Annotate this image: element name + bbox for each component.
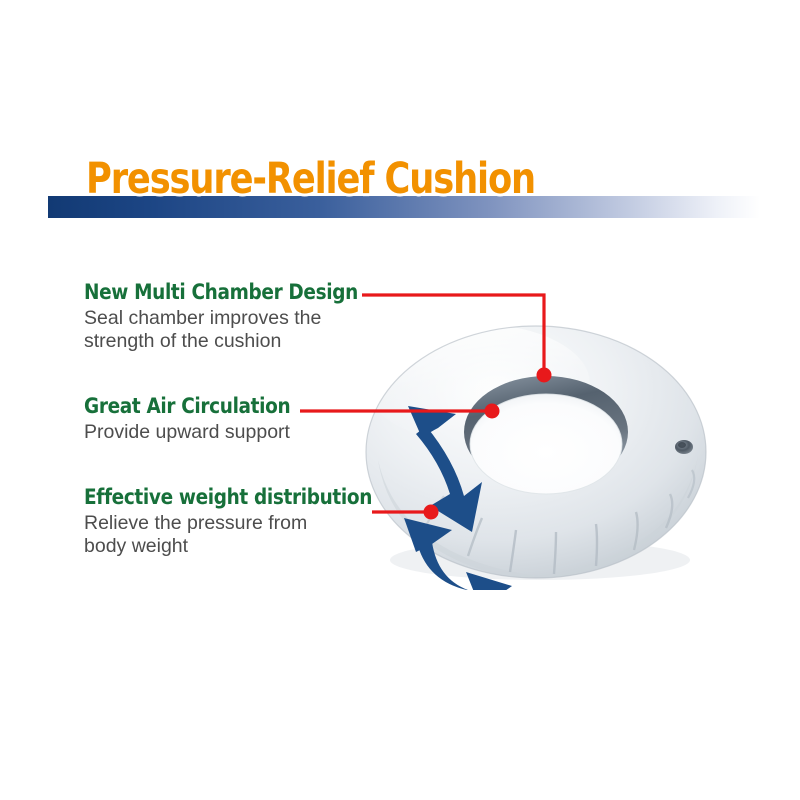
callout-body: Provide upward support [84, 421, 318, 444]
callout-heading: Effective weight distribution [84, 485, 372, 509]
callout-effective-weight-distribution: Effective weight distribution Relieve th… [84, 485, 411, 558]
callout-new-multi-chamber-design: New Multi Chamber Design Seal chamber im… [84, 280, 395, 353]
page-title: Pressure-Relief Cushion [86, 153, 535, 205]
callout-heading: New Multi Chamber Design [84, 280, 358, 304]
callout-great-air-circulation: Great Air Circulation Provide upward sup… [84, 394, 318, 444]
ring-hole [470, 394, 622, 494]
product-illustration [360, 310, 720, 590]
callout-body: Seal chamber improves the strength of th… [84, 307, 395, 353]
callout-body: Relieve the pressure from body weight [84, 512, 411, 558]
callout-heading: Great Air Circulation [84, 394, 290, 418]
infographic-page: Pressure-Relief Cushion [0, 0, 800, 800]
